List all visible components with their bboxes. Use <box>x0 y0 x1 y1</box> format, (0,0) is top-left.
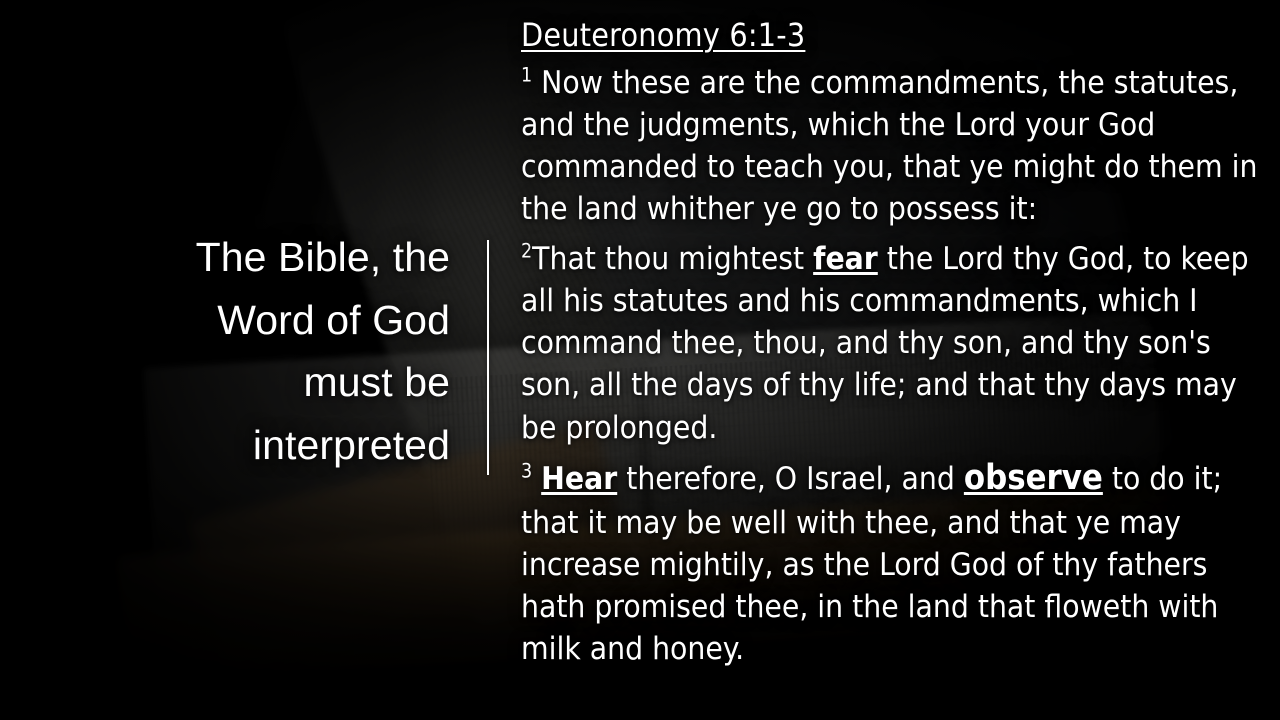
verse-number: 3 <box>521 459 532 482</box>
verse-list: 1 Now these are the commandments, the st… <box>521 62 1273 671</box>
emphasized-word: observe <box>964 458 1103 498</box>
verse-number: 1 <box>521 63 532 86</box>
scripture-block: Deuteronomy 6:1-3 1 Now these are the co… <box>521 14 1273 671</box>
presentation-slide: The Bible, the Word of God must be inter… <box>0 0 1280 720</box>
vertical-divider <box>487 240 489 475</box>
verse-paragraph: 2That thou mightest fear the Lord thy Go… <box>521 238 1273 449</box>
verse-number: 2 <box>521 239 532 262</box>
emphasized-word: fear <box>813 241 878 277</box>
scripture-reference: Deuteronomy 6:1-3 <box>521 14 1273 57</box>
verse-paragraph: 1 Now these are the commandments, the st… <box>521 62 1273 231</box>
slide-title-line-4: interpreted <box>60 414 450 477</box>
slide-title-line-3: must be <box>60 351 450 414</box>
slide-title: The Bible, the Word of God must be inter… <box>60 226 450 477</box>
emphasized-word: Hear <box>541 461 617 497</box>
slide-title-line-1: The Bible, the <box>60 226 450 289</box>
verse-paragraph: 3 Hear therefore, O Israel, and observe … <box>521 456 1273 671</box>
slide-title-line-2: Word of God <box>60 289 450 352</box>
